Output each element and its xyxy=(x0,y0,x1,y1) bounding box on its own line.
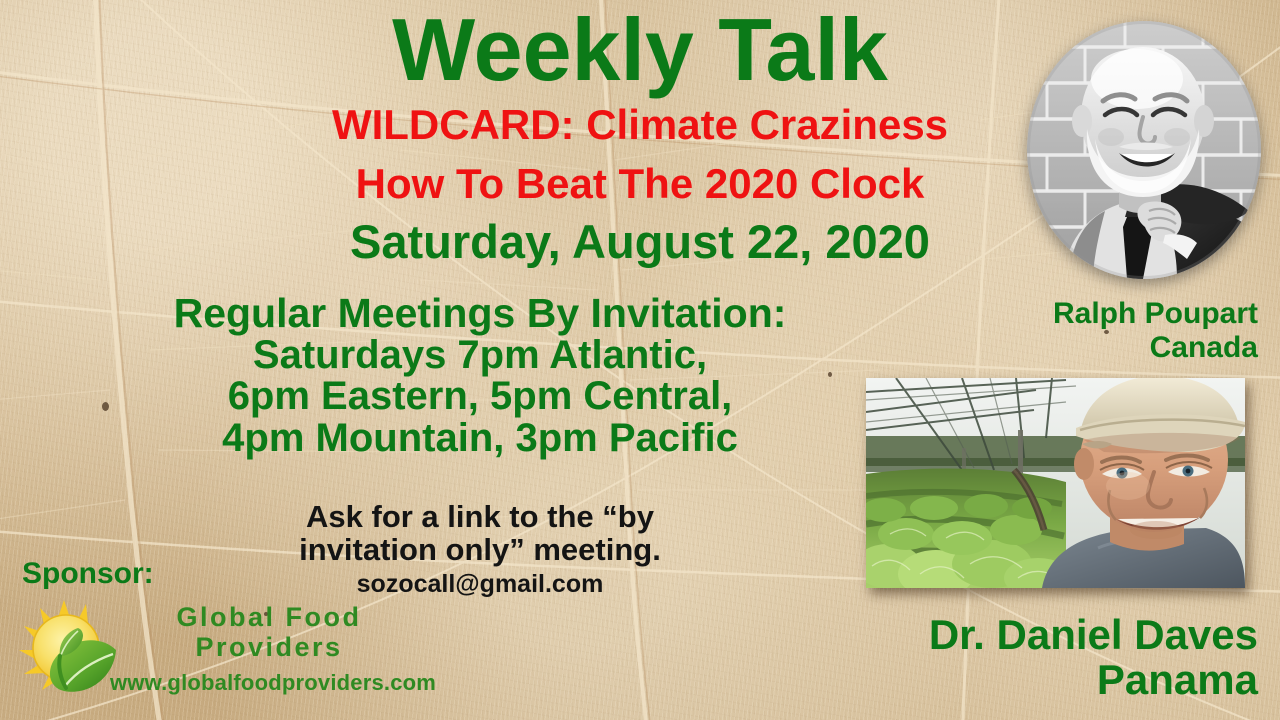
photo-daniel-daves-greenhouse xyxy=(866,378,1245,588)
speaker-2-caption: Dr. Daniel Daves Panama xyxy=(798,612,1258,703)
contact-email[interactable]: sozocall@gmail.com xyxy=(160,571,800,598)
speaker-1-country: Canada xyxy=(838,331,1258,365)
meeting-time-line: Saturdays 7pm Atlantic, xyxy=(0,335,960,377)
avatar-ralph-poupart xyxy=(1027,21,1261,279)
speaker-1-name: Ralph Poupart xyxy=(838,297,1258,331)
invitation-block: Ask for a link to the “by invitation onl… xyxy=(160,500,800,598)
sponsor-label: Sponsor: xyxy=(22,559,154,589)
flyer-canvas: Weekly Talk WILDCARD: Climate Craziness … xyxy=(0,0,1280,720)
meeting-times-block: Regular Meetings By Invitation: Saturday… xyxy=(0,292,960,459)
speaker-2-name: Dr. Daniel Daves xyxy=(798,612,1258,657)
sponsor-logo-text: Global Food Providers xyxy=(104,602,434,662)
speaker-2-country: Panama xyxy=(798,657,1258,702)
invitation-line-2: invitation only” meeting. xyxy=(160,533,800,566)
meeting-time-line: 6pm Eastern, 5pm Central, xyxy=(0,376,960,418)
invitation-line-1: Ask for a link to the “by xyxy=(160,500,800,533)
sponsor-name-line-2: Providers xyxy=(104,632,434,662)
sponsor-website-url[interactable]: www.globalfoodproviders.com xyxy=(110,672,436,694)
speaker-1-caption: Ralph Poupart Canada xyxy=(838,297,1258,364)
meeting-time-line: 4pm Mountain, 3pm Pacific xyxy=(0,418,960,460)
meeting-heading: Regular Meetings By Invitation: xyxy=(0,292,960,335)
sponsor-name-line-1: Global Food xyxy=(104,602,434,632)
